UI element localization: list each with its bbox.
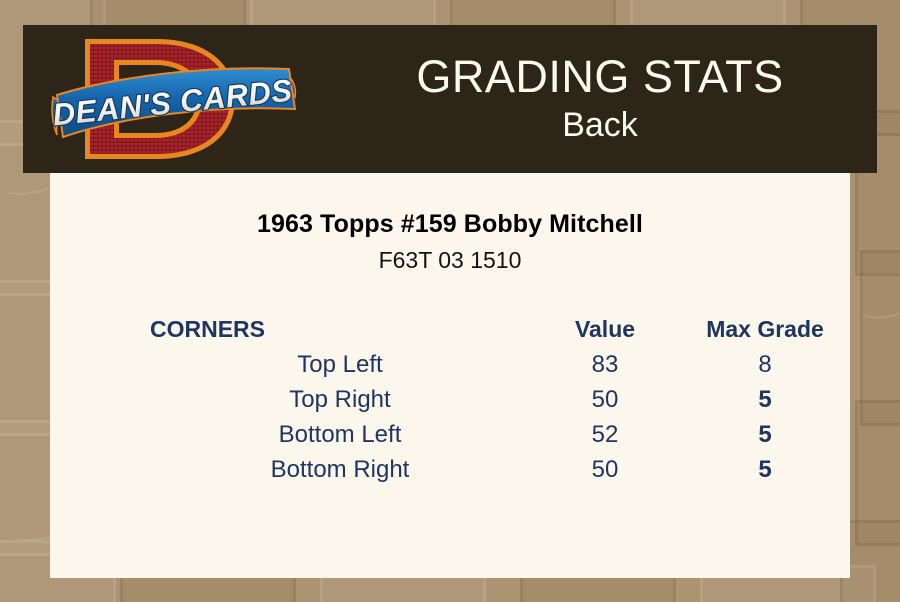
card-serial-number: F63T 03 1510 [50,247,850,274]
table-row: Bottom Left525 [150,417,850,452]
column-header-max-grade: Max Grade [680,312,850,347]
grading-stats-page: DEAN'S CARDS GRADING STATS Back 1963 Top… [0,0,900,602]
header-bar: DEAN'S CARDS GRADING STATS Back [23,25,877,173]
table-header: CORNERS Value Max Grade [150,312,850,347]
table-row: Top Right505 [150,382,850,417]
row-value: 83 [530,347,680,382]
table-header-row: CORNERS Value Max Grade [150,312,850,347]
row-label: Bottom Left [150,417,530,452]
row-max-grade: 5 [680,452,850,487]
row-label: Top Right [150,382,530,417]
row-label: Top Left [150,347,530,382]
page-subtitle: Back [562,104,638,146]
row-value: 50 [530,382,680,417]
header-title-group: GRADING STATS Back [323,25,877,173]
row-label: Bottom Right [150,452,530,487]
row-value: 52 [530,417,680,452]
row-max-grade: 5 [680,417,850,452]
row-max-grade: 8 [680,347,850,382]
table-row: Bottom Right505 [150,452,850,487]
content-panel: 1963 Topps #159 Bobby Mitchell F63T 03 1… [50,173,850,578]
deans-cards-logo[interactable]: DEAN'S CARDS [45,27,317,171]
card-title: 1963 Topps #159 Bobby Mitchell [50,210,850,239]
row-max-grade: 5 [680,382,850,417]
table-body: Top Left838Top Right505Bottom Left525Bot… [150,347,850,487]
page-title: GRADING STATS [416,52,783,102]
column-header-section: CORNERS [150,312,530,347]
column-header-value: Value [530,312,680,347]
grading-stats-table: CORNERS Value Max Grade Top Left838Top R… [150,312,850,487]
row-value: 50 [530,452,680,487]
table-row: Top Left838 [150,347,850,382]
